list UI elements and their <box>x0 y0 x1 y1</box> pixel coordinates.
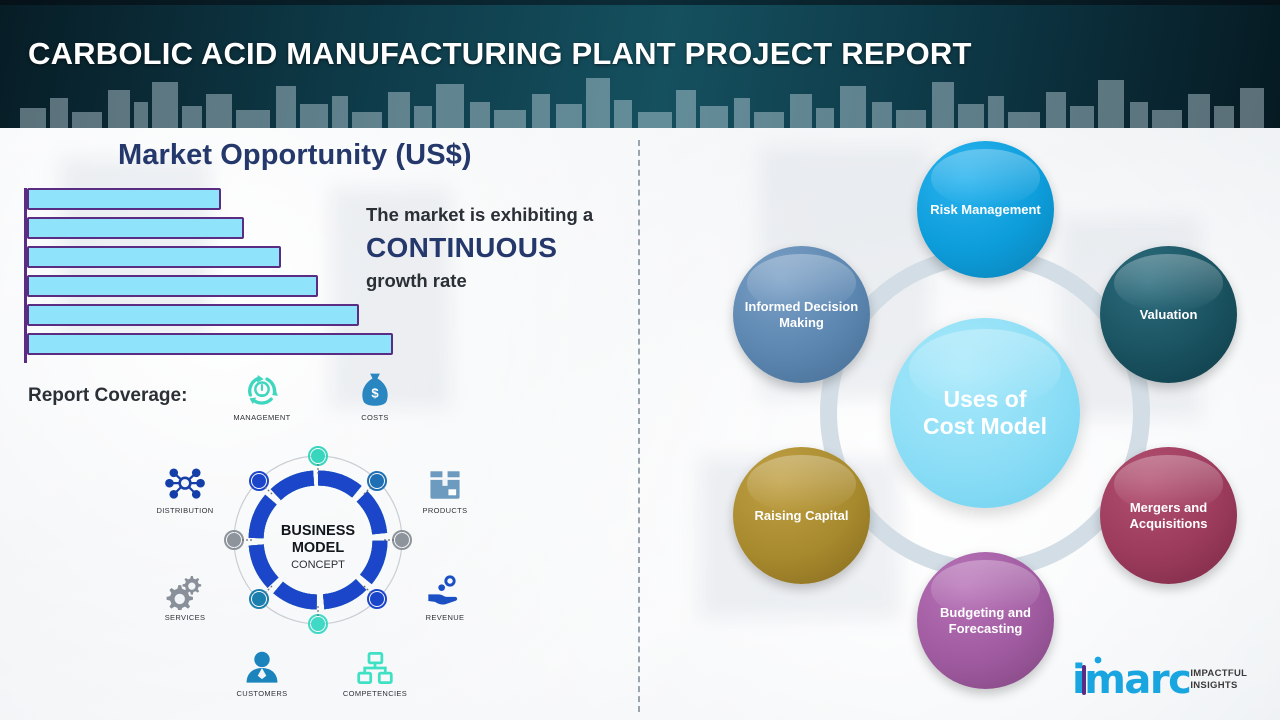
person-user-icon <box>215 644 309 686</box>
page-header: CARBOLIC ACID MANUFACTURING PLANT PROJEC… <box>0 0 1280 128</box>
node-label: Risk Management <box>922 202 1049 217</box>
cost-model-diagram: Risk Management Valuation Mergers and Ac… <box>660 130 1280 720</box>
bm-center-line1: BUSINESS <box>281 523 355 539</box>
bm-node-customers: CUSTOMERS <box>215 644 309 698</box>
node-label: Raising Capital <box>747 508 857 523</box>
box-package-icon <box>398 461 492 503</box>
chart-bar <box>27 217 244 239</box>
center-label: Uses of Cost Model <box>915 386 1055 440</box>
bm-node-competencies: COMPETENCIES <box>328 644 422 698</box>
org-chart-icon <box>328 644 422 686</box>
business-model-donut: BUSINESS MODEL CONCEPT <box>140 368 500 708</box>
bm-label: PRODUCTS <box>398 506 492 515</box>
logo-wordmark: imarc <box>1072 660 1190 700</box>
bm-label: COSTS <box>328 413 422 422</box>
bm-node-products: PRODUCTS <box>398 461 492 515</box>
cost-model-center[interactable]: Uses of Cost Model <box>890 318 1080 508</box>
logo-tagline-line2: INSIGHTS <box>1190 680 1247 692</box>
callout-line-3: growth rate <box>366 270 636 292</box>
cost-model-node-budgeting-forecasting[interactable]: Budgeting and Forecasting <box>917 552 1054 689</box>
cost-model-node-raising-capital[interactable]: Raising Capital <box>733 447 870 584</box>
chart-bar <box>27 333 393 355</box>
callout-line-1: The market is exhibiting a <box>366 203 636 226</box>
hand-coins-icon <box>398 568 492 610</box>
bm-label: COMPETENCIES <box>328 689 422 698</box>
node-label: Budgeting and Forecasting <box>917 605 1054 636</box>
bm-center-line2: MODEL <box>292 540 345 556</box>
business-model-diagram: BUSINESS MODEL CONCEPT MANAGEMENT <box>140 368 500 708</box>
svg-text:$: $ <box>371 385 379 400</box>
bm-node-revenue: REVENUE <box>398 568 492 622</box>
bm-node-management: MANAGEMENT <box>215 368 309 422</box>
bm-label: SERVICES <box>138 613 232 622</box>
chart-bar <box>27 188 221 210</box>
callout-emphasis: CONTINUOUS <box>366 232 636 264</box>
gears-icon <box>138 568 232 610</box>
page-title: CARBOLIC ACID MANUFACTURING PLANT PROJEC… <box>28 36 972 72</box>
chart-bar <box>27 246 281 268</box>
market-callout: The market is exhibiting a CONTINUOUS gr… <box>366 203 636 292</box>
logo-separator <box>1082 665 1086 695</box>
market-opportunity-bar-chart <box>24 188 404 363</box>
cost-model-node-informed-decision-making[interactable]: Informed Decision Making <box>733 246 870 383</box>
logo-tagline-line1: IMPACTFUL <box>1190 668 1247 680</box>
bm-label: CUSTOMERS <box>215 689 309 698</box>
network-nodes-icon <box>138 461 232 503</box>
node-label: Mergers and Acquisitions <box>1100 500 1237 531</box>
bm-node-costs: $ COSTS <box>328 368 422 422</box>
cost-model-node-mergers-acquisitions[interactable]: Mergers and Acquisitions <box>1100 447 1237 584</box>
header-top-strip <box>0 0 1280 5</box>
node-label: Informed Decision Making <box>733 299 870 330</box>
market-opportunity-title: Market Opportunity (US$) <box>118 139 472 172</box>
bm-node-services: SERVICES <box>138 568 232 622</box>
chart-bar <box>27 304 359 326</box>
chart-bar <box>27 275 318 297</box>
bm-label: MANAGEMENT <box>215 413 309 422</box>
bm-node-distribution: DISTRIBUTION <box>138 461 232 515</box>
cost-model-node-valuation[interactable]: Valuation <box>1100 246 1237 383</box>
logo-dot-icon <box>1094 656 1102 664</box>
bm-center-line3: CONCEPT <box>291 559 345 571</box>
bm-label: DISTRIBUTION <box>138 506 232 515</box>
slide-root: CARBOLIC ACID MANUFACTURING PLANT PROJEC… <box>0 0 1280 720</box>
city-skyline-icon <box>0 68 1280 128</box>
center-line-1: Uses of <box>943 386 1026 412</box>
bm-label: REVENUE <box>398 613 492 622</box>
panel-divider <box>638 140 640 712</box>
center-line-2: Cost Model <box>923 413 1047 439</box>
money-bag-icon: $ <box>328 368 422 410</box>
recycle-lightbulb-icon <box>215 368 309 410</box>
node-label: Valuation <box>1132 307 1206 322</box>
imarc-logo[interactable]: imarc IMPACTFUL INSIGHTS <box>1072 660 1272 708</box>
cost-model-node-risk-management[interactable]: Risk Management <box>917 141 1054 278</box>
